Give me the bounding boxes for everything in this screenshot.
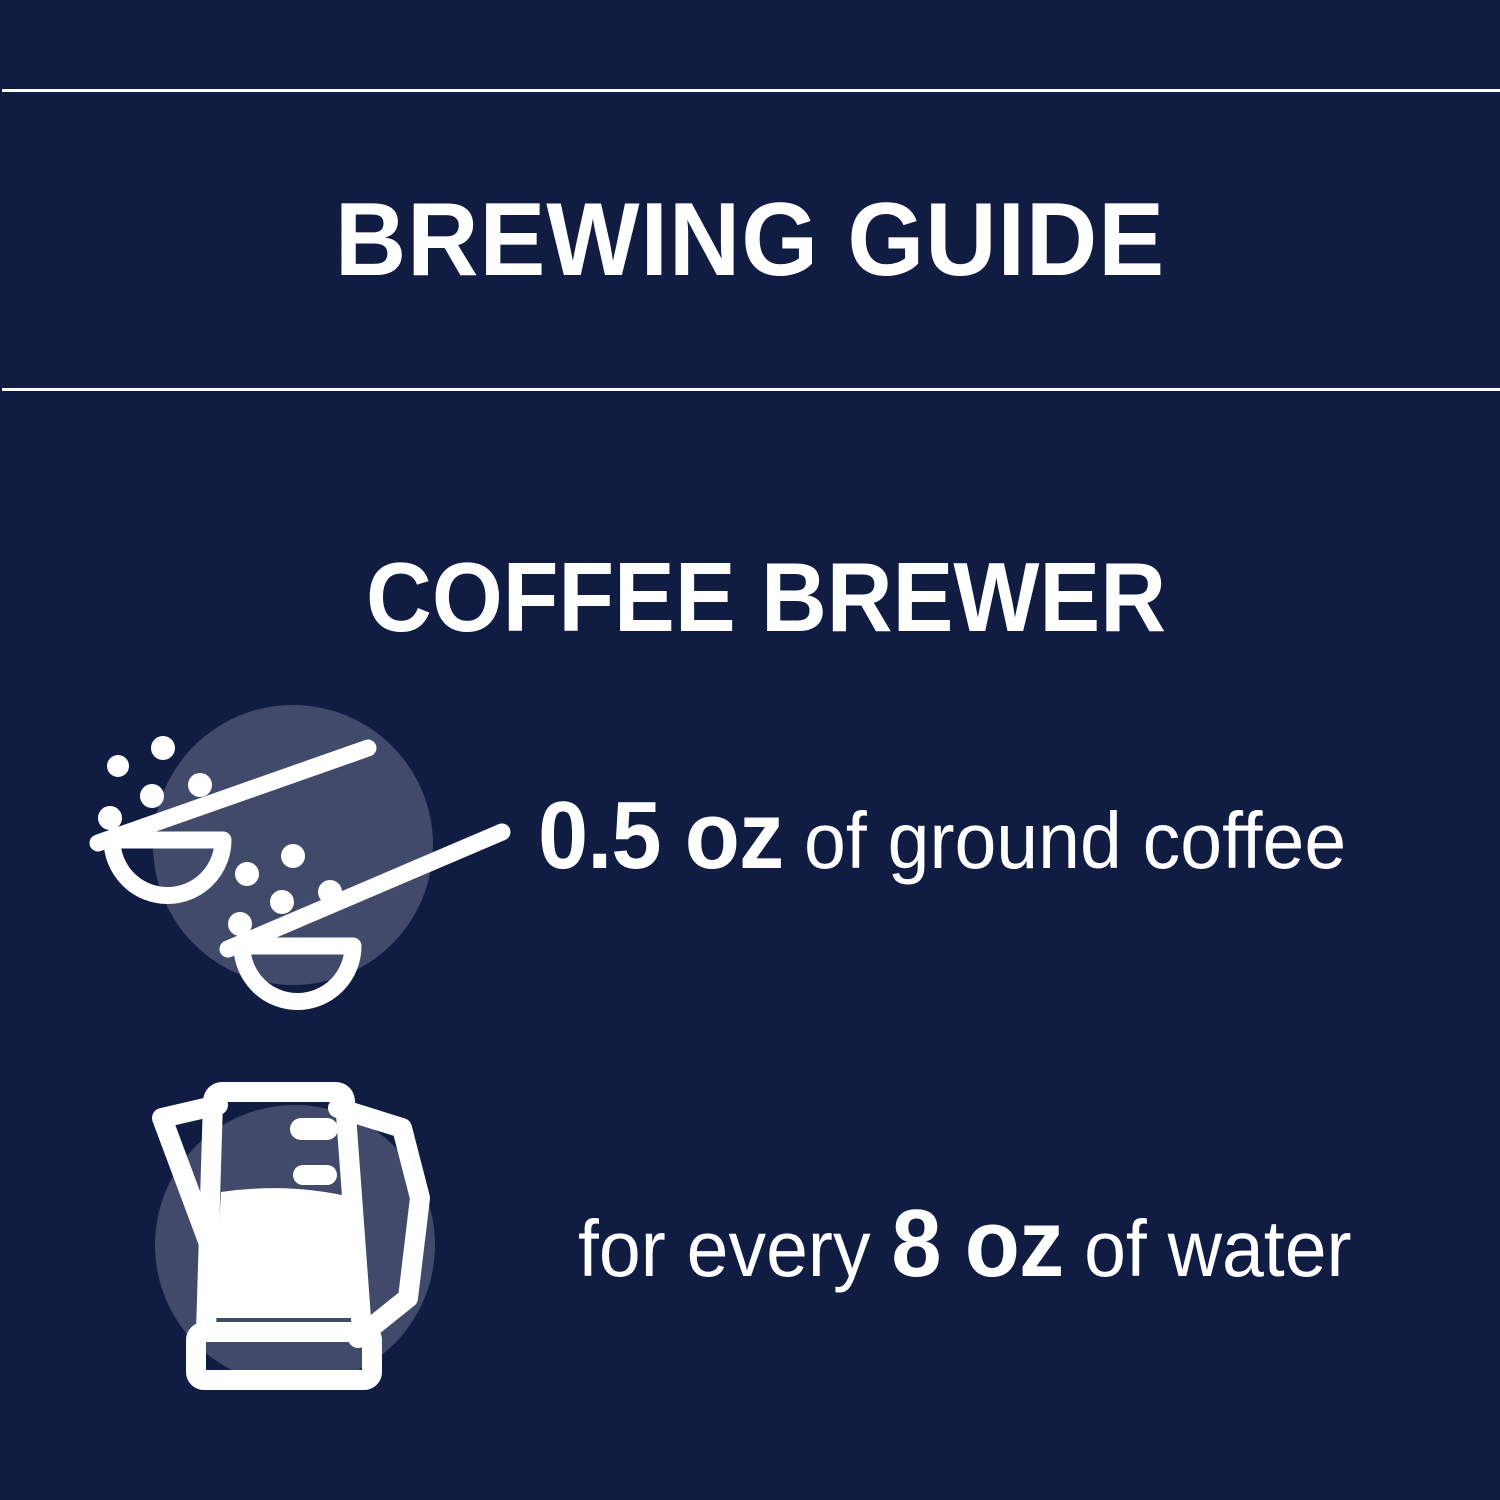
brewing-guide-page: BREWING GUIDE COFFEE BREWER bbox=[0, 0, 1500, 1500]
coffee-amount: 0.5 oz bbox=[538, 782, 783, 889]
water-lead: for every bbox=[578, 1204, 891, 1293]
water-carafe-icon bbox=[90, 1070, 520, 1400]
water-measure-text: for every 8 oz of water bbox=[578, 1196, 1352, 1292]
section-heading-coffee-brewer: COFFEE BREWER bbox=[366, 548, 1166, 646]
carafe-measure-mark-upper bbox=[290, 1118, 338, 1140]
header-bottom-rule bbox=[2, 388, 1500, 391]
coffee-scoop-icon-wrap bbox=[90, 690, 520, 1000]
coffee-measure-text: 0.5 oz of ground coffee bbox=[538, 788, 1346, 884]
title-band: BREWING GUIDE bbox=[0, 92, 1500, 388]
coffee-amount-tail: of ground coffee bbox=[783, 796, 1346, 885]
carafe-measure-mark-lower bbox=[293, 1165, 337, 1185]
water-amount: 8 oz bbox=[891, 1190, 1063, 1297]
page-title: BREWING GUIDE bbox=[335, 188, 1165, 292]
water-amount-tail: of water bbox=[1063, 1204, 1351, 1293]
water-carafe-icon-wrap bbox=[90, 1070, 520, 1380]
coffee-scoop-icon bbox=[90, 690, 520, 1000]
carafe-water-level bbox=[213, 1188, 360, 1318]
